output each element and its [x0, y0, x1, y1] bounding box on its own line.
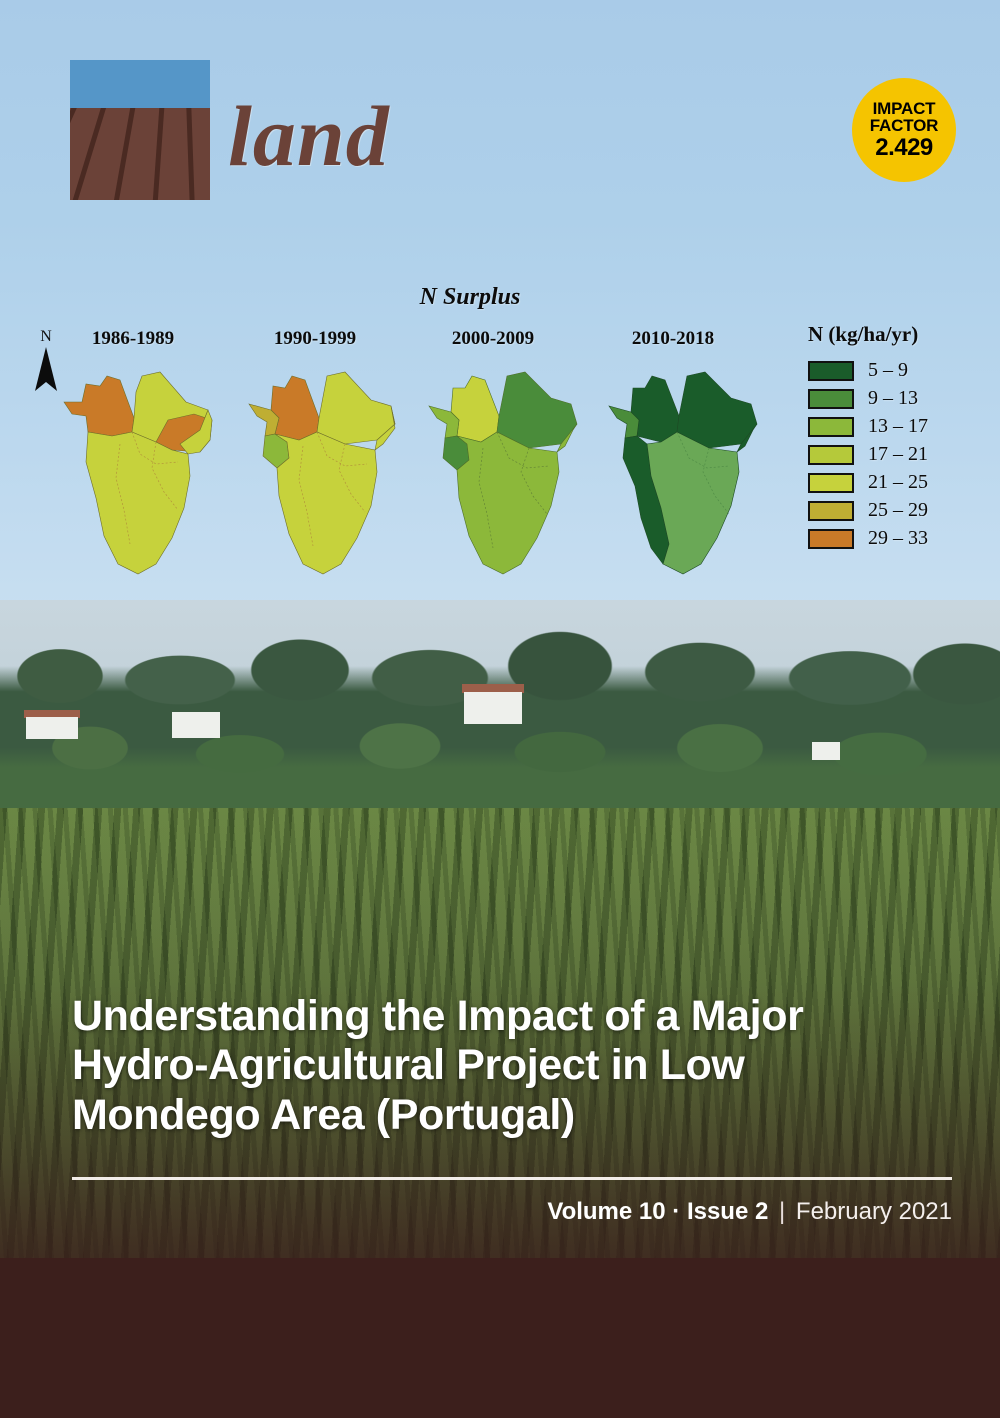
choropleth-map-3 [425, 358, 625, 588]
impact-factor-line2: FACTOR [870, 117, 938, 134]
volume-issue-text: Volume 10 · Issue 2 [547, 1198, 768, 1225]
choropleth-map-4 [605, 358, 805, 588]
issue-information: Volume 10 · Issue 2 | February 2021 [72, 1198, 952, 1226]
journal-cover: land IMPACT FACTOR 2.429 N Surplus N 198… [0, 0, 1000, 1418]
legend-item: 5 – 9 [808, 359, 993, 382]
legend-label: 13 – 17 [868, 415, 928, 438]
legend-item: 9 – 13 [808, 387, 993, 410]
legend-item: 21 – 25 [808, 471, 993, 494]
panel-label-2010-2018: 2010-2018 [578, 328, 768, 350]
cover-title-line-3: Mondego Area (Portugal) [72, 1091, 952, 1140]
cover-footer: MDPI mdpi.com/journal/land ISSN 2073-445… [0, 1258, 1000, 1418]
legend-label: 21 – 25 [868, 471, 928, 494]
choropleth-map-2 [245, 358, 445, 588]
legend-title: N (kg/ha/yr) [808, 322, 993, 347]
legend-item: 25 – 29 [808, 499, 993, 522]
choropleth-map-1 [60, 358, 260, 588]
panel-label-1990-1999: 1990-1999 [220, 328, 410, 350]
legend-label: 5 – 9 [868, 359, 908, 382]
figure-title: N Surplus [0, 284, 940, 311]
legend-label: 17 – 21 [868, 443, 928, 466]
panel-label-2000-2009: 2000-2009 [398, 328, 588, 350]
land-field-logo [70, 60, 210, 200]
cover-title-line-1: Understanding the Impact of a Major [72, 992, 952, 1041]
journal-wordmark: land [228, 86, 390, 186]
map-legend: N (kg/ha/yr) 5 – 9 9 – 13 13 – 17 17 – 2… [808, 322, 993, 555]
legend-swatch [808, 417, 854, 437]
issue-date-text: February 2021 [796, 1198, 952, 1225]
building-house [464, 692, 522, 724]
photo-treeline-near [0, 708, 1000, 818]
building-house [26, 717, 78, 739]
cover-title-block: Understanding the Impact of a Major Hydr… [72, 992, 952, 1140]
legend-swatch [808, 361, 854, 381]
issue-separator: | [779, 1198, 785, 1225]
legend-label: 25 – 29 [868, 499, 928, 522]
legend-label: 29 – 33 [868, 527, 928, 550]
legend-swatch [808, 501, 854, 521]
map-panel-2010-2018 [605, 358, 805, 588]
title-divider-rule [72, 1177, 952, 1180]
legend-item: 29 – 33 [808, 527, 993, 550]
map-panel-1990-1999 [245, 358, 445, 588]
building-house [172, 712, 220, 738]
legend-swatch [808, 473, 854, 493]
map-panel-1986-1989 [60, 358, 260, 588]
legend-swatch [808, 529, 854, 549]
impact-factor-value: 2.429 [875, 136, 933, 160]
logo-field-band [70, 108, 210, 200]
logo-sky-band [70, 60, 210, 108]
legend-swatch [808, 445, 854, 465]
legend-item: 17 – 21 [808, 443, 993, 466]
legend-item: 13 – 17 [808, 415, 993, 438]
panel-label-1986-1989: 1986-1989 [38, 328, 228, 350]
legend-label: 9 – 13 [868, 387, 918, 410]
map-panel-2000-2009 [425, 358, 625, 588]
impact-factor-line1: IMPACT [873, 100, 936, 117]
north-arrow-glyph [34, 347, 58, 393]
building-shed [812, 742, 840, 760]
legend-swatch [808, 389, 854, 409]
cover-title-line-2: Hydro-Agricultural Project in Low [72, 1041, 952, 1090]
impact-factor-badge: IMPACT FACTOR 2.429 [852, 78, 956, 182]
